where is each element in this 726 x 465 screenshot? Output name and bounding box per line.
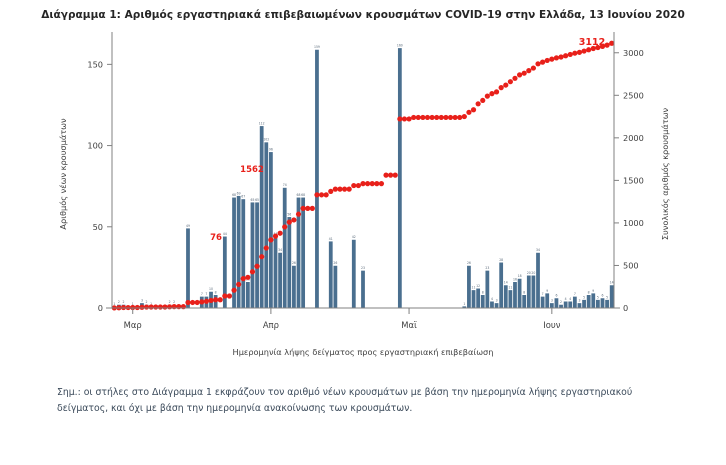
bar-value-label: 7 (542, 292, 544, 296)
cumulative-point (499, 85, 504, 90)
cumulative-point (273, 234, 278, 239)
bar (596, 300, 600, 308)
bar-value-label: 42 (352, 235, 356, 239)
bar-value-label: 2 (173, 300, 175, 304)
axes: 050100150050010001500200025003000ΜαρΑπρΜ… (58, 32, 670, 357)
cumulative-point (351, 183, 356, 188)
cumulative-point (135, 305, 140, 310)
cumulative-point (568, 52, 573, 57)
bar-value-label: 2 (146, 300, 148, 304)
bar-value-label: 5 (606, 295, 608, 299)
bar (269, 152, 273, 308)
cumulative-point (558, 54, 563, 59)
cumulative-point (563, 53, 568, 58)
bar (522, 295, 526, 308)
bar (329, 241, 333, 308)
bar (352, 240, 356, 308)
bar (186, 228, 190, 308)
cumulative-point (167, 304, 172, 309)
bar (278, 253, 282, 308)
bar (601, 298, 605, 308)
bar-value-label: 5 (583, 295, 585, 299)
bar (398, 48, 402, 308)
bar-value-label: 160 (397, 44, 403, 48)
x-tick-label: Απρ (263, 320, 279, 330)
bar-value-label: 26 (467, 261, 471, 265)
bar-value-label: 68 (301, 193, 305, 197)
cumulative-point (296, 212, 301, 217)
bar-value-label: 44 (223, 232, 227, 236)
bar (550, 303, 554, 308)
y2-tick-label: 3000 (623, 48, 644, 58)
bar (555, 298, 559, 308)
chart-svg: 1221321224977108446869671665651121029644… (0, 0, 726, 380)
cumulative-point (278, 231, 283, 236)
bar-value-label: 4 (491, 297, 493, 301)
y-tick-label: 50 (93, 222, 103, 232)
bar (361, 271, 365, 308)
cumulative-point (291, 217, 296, 222)
bar-value-label: 11 (508, 286, 512, 290)
bar-value-label: 9 (546, 289, 548, 293)
bar (578, 303, 582, 308)
bar (315, 50, 319, 308)
cumulative-point (153, 304, 158, 309)
cumulative-point (310, 206, 315, 211)
cumulative-point (402, 116, 407, 121)
bar-value-label: 20 (531, 271, 535, 275)
cumulative-point (241, 276, 246, 281)
bar-value-label: 12 (476, 284, 480, 288)
cumulative-point (254, 264, 259, 269)
bar (476, 289, 480, 308)
x-axis-title: Ημερομηνία λήψης δείγματος προς εργαστηρ… (233, 347, 494, 357)
bar-value-label: 5 (597, 295, 599, 299)
cumulative-point (259, 254, 264, 259)
bar-value-label: 20 (527, 271, 531, 275)
cumulative-point (549, 57, 554, 62)
bar (564, 302, 568, 309)
bar-value-label: 112 (259, 121, 265, 125)
cumulative-point (604, 43, 609, 48)
bar-value-label: 26 (333, 261, 337, 265)
bar-value-label: 8 (523, 290, 525, 294)
cumulative-point (301, 206, 306, 211)
bar (274, 237, 278, 308)
cumulative-point (333, 187, 338, 192)
bar-value-label: 8 (482, 290, 484, 294)
cumulative-point (420, 115, 425, 120)
cumulative-point (489, 91, 494, 96)
cumulative-point (208, 298, 213, 303)
cumulative-point (466, 110, 471, 115)
cumulative-point (365, 181, 370, 186)
cumulative-point (526, 68, 531, 73)
cumulative-point (494, 89, 499, 94)
bar (568, 302, 572, 309)
bar-value-label: 14 (610, 281, 614, 285)
bar (587, 295, 591, 308)
cumulative-point (324, 192, 329, 197)
bar (504, 285, 508, 308)
bar-value-label: 67 (241, 195, 245, 199)
y2-tick-label: 1000 (623, 218, 644, 228)
bar (333, 266, 337, 308)
x-tick-label: Μαρ (124, 320, 142, 330)
cumulative-point (512, 76, 517, 81)
bar (508, 290, 512, 308)
bar-value-label: 68 (232, 193, 236, 197)
cumulative-early-label: 76 (210, 233, 222, 243)
bar (605, 300, 609, 308)
bar-value-label: 96 (269, 147, 273, 151)
cumulative-point (476, 101, 481, 106)
bar-value-label: 6 (555, 294, 557, 298)
bar (495, 303, 499, 308)
bar-value-label: 3 (578, 299, 580, 303)
bar-value-label: 65 (251, 198, 255, 202)
cumulative-point (439, 115, 444, 120)
bar-value-label: 8 (588, 290, 590, 294)
bar-value-label: 34 (278, 248, 282, 252)
bar (467, 266, 471, 308)
bar-value-label: 41 (329, 237, 333, 241)
cumulative-point (434, 115, 439, 120)
bar (513, 282, 517, 308)
cumulative-point (508, 79, 513, 84)
bar-value-label: 2 (118, 300, 120, 304)
cumulative-point (388, 173, 393, 178)
bar-value-label: 102 (263, 138, 269, 142)
y2-tick-label: 2000 (623, 133, 644, 143)
bar-value-label: 3 (141, 299, 143, 303)
bar (283, 188, 287, 308)
cumulative-point (370, 181, 375, 186)
cumulative-point (577, 50, 582, 55)
cumulative-point (581, 48, 586, 53)
cumulative-point (139, 305, 144, 310)
cumulative-point (328, 189, 333, 194)
cumulative-point (190, 300, 195, 305)
bar-value-label: 14 (504, 281, 508, 285)
bar (490, 302, 494, 309)
cumulative-point (347, 187, 352, 192)
cumulative-end-label: 3112 (579, 37, 605, 48)
y-axis-title: Αριθμός νέων κρουσμάτων (58, 118, 68, 230)
cumulative-point (360, 181, 365, 186)
bar-value-label: 4 (569, 297, 571, 301)
cumulative-point (406, 116, 411, 121)
x-tick-label: Ιουν (543, 320, 560, 330)
cumulative-point (314, 192, 319, 197)
bar (527, 276, 531, 308)
bar-value-label: 68 (297, 193, 301, 197)
cumulative-point (535, 61, 540, 66)
bar (573, 297, 577, 308)
bar-value-label: 1 (463, 302, 465, 306)
cumulative-point (268, 237, 273, 242)
bar-value-label: 9 (592, 289, 594, 293)
cumulative-point (480, 98, 485, 103)
bar (251, 202, 255, 308)
bar (518, 279, 522, 308)
bar (260, 126, 264, 308)
bar (536, 253, 540, 308)
bar (255, 202, 259, 308)
cumulative-point (531, 65, 536, 70)
bar (287, 217, 291, 308)
bar-value-label: 69 (237, 191, 241, 195)
plot-area: 1221321224977108446869671665651121029644… (0, 0, 726, 380)
bar-value-label: 23 (485, 266, 489, 270)
cumulative-point (393, 173, 398, 178)
bar-value-label: 8 (215, 290, 217, 294)
bar-value-label: 7 (201, 292, 203, 296)
y-tick-label: 0 (98, 303, 103, 313)
bar-value-label: 56 (287, 212, 291, 216)
cumulative-point (222, 293, 227, 298)
bar-value-label: 10 (209, 287, 213, 291)
cumulative-point (429, 115, 434, 120)
cumulative-point (572, 51, 577, 56)
cumulative-point (227, 293, 232, 298)
cumulative-point (195, 300, 200, 305)
cumulative-point (245, 275, 250, 280)
bar-value-label: 28 (499, 258, 503, 262)
cumulative-point (411, 115, 416, 120)
bar-value-label: 4 (565, 297, 567, 301)
y2-tick-label: 0 (623, 303, 628, 313)
cumulative-point (231, 288, 236, 293)
bar-value-label: 74 (283, 183, 287, 187)
cumulative-point (517, 72, 522, 77)
bar (485, 271, 489, 308)
x-tick-label: Μαϊ (401, 320, 417, 330)
bar (237, 196, 241, 308)
y-tick-label: 100 (87, 141, 103, 151)
bar (246, 282, 250, 308)
bar (610, 285, 614, 308)
cumulative-point (236, 282, 241, 287)
cumulative-point (319, 192, 324, 197)
y2-tick-label: 2500 (623, 90, 644, 100)
bar-value-label: 2 (560, 300, 562, 304)
cumulative-point (462, 114, 467, 119)
cumulative-point (213, 297, 218, 302)
cumulative-point (443, 115, 448, 120)
cumulative-point (149, 304, 154, 309)
cumulative-mid-label: 1562 (240, 165, 264, 175)
footnote-text: Σημ.: οι στήλες στο Διάγραμμα 1 εκφράζου… (57, 385, 677, 418)
cumulative-point (416, 115, 421, 120)
cumulative-point (503, 82, 508, 87)
bar-value-label: 18 (518, 274, 522, 278)
cumulative-point (425, 115, 430, 120)
cumulative-point (397, 116, 402, 121)
cumulative-point (448, 115, 453, 120)
bar-value-label: 3 (551, 299, 553, 303)
bar (292, 266, 296, 308)
bar-value-label: 7 (205, 292, 207, 296)
chart-container: Διάγραμμα 1: Αριθμός εργαστηριακά επιβεβ… (0, 0, 726, 465)
bar (499, 263, 503, 308)
cumulative-point (522, 71, 527, 76)
bar-value-label: 2 (123, 300, 125, 304)
bar (582, 300, 586, 308)
bar-value-label: 34 (536, 248, 540, 252)
cumulative-point (185, 300, 190, 305)
cumulative-point (471, 107, 476, 112)
bar-value-label: 26 (292, 261, 296, 265)
cumulative-point (379, 181, 384, 186)
bar-value-label: 1 (113, 302, 115, 306)
cumulative-point (199, 299, 204, 304)
cumulative-point (282, 224, 287, 229)
cumulative-point (457, 115, 462, 120)
cumulative-point (264, 245, 269, 250)
bar (481, 295, 485, 308)
bar (264, 142, 268, 308)
y2-tick-label: 500 (623, 260, 639, 270)
cumulative-point (545, 58, 550, 63)
bar (532, 276, 536, 308)
cumulative-point (554, 55, 559, 60)
cumulative-point (342, 187, 347, 192)
cumulative-point (162, 304, 167, 309)
bar (591, 293, 595, 308)
bar (545, 293, 549, 308)
bar (541, 297, 545, 308)
cumulative-point (453, 115, 458, 120)
bar-value-label: 159 (314, 45, 320, 49)
cumulative-point (204, 299, 209, 304)
bar-value-label: 16 (513, 277, 517, 281)
cumulative-point (485, 94, 490, 99)
cumulative-point (287, 220, 292, 225)
y-tick-label: 150 (87, 59, 103, 69)
cumulative-point (158, 304, 163, 309)
cumulative-point (218, 297, 223, 302)
cumulative-point (356, 183, 361, 188)
cumulative-point (374, 181, 379, 186)
bar (472, 290, 476, 308)
y2-tick-label: 1500 (623, 175, 644, 185)
bar (301, 198, 305, 308)
bar-value-label: 6 (602, 294, 604, 298)
cumulative-point (540, 60, 545, 65)
bar-value-label: 49 (186, 224, 190, 228)
bar-value-label: 11 (472, 286, 476, 290)
bar-value-label: 23 (361, 266, 365, 270)
bar-value-label: 65 (255, 198, 259, 202)
bar-value-label: 3 (496, 299, 498, 303)
bar-value-label: 2 (169, 300, 171, 304)
cumulative-point (305, 206, 310, 211)
y2-axis-title: Συνολικός αριθμός κρουσμάτων (660, 107, 670, 240)
cumulative-point (250, 269, 255, 274)
cumulative-point (383, 173, 388, 178)
bar (241, 199, 245, 308)
cumulative-point (337, 187, 342, 192)
cumulative-point (144, 304, 149, 309)
bar-value-label: 7 (574, 292, 576, 296)
